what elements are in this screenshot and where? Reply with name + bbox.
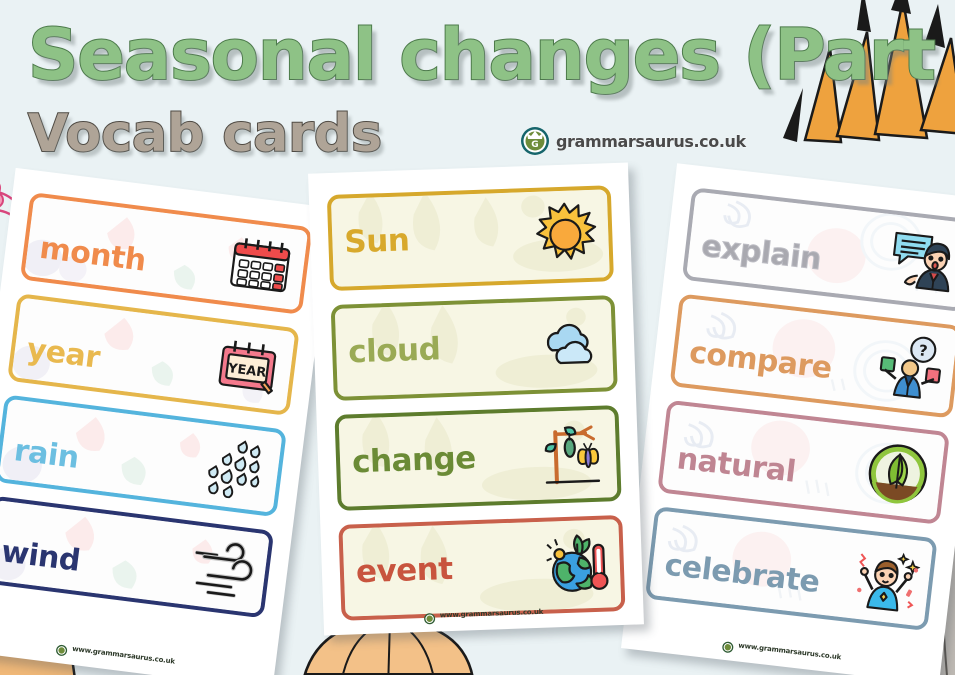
calendar-year-icon: YEAR — [211, 330, 285, 404]
vocab-card[interactable]: cloud — [331, 295, 618, 401]
earth-thermometer-icon — [543, 530, 611, 598]
vocab-card[interactable]: explain — [682, 187, 955, 312]
svg-text:G: G — [531, 140, 538, 150]
sheet-credit-text: www.grammarsaurus.co.uk — [72, 645, 176, 666]
vocab-sheet-right[interactable]: explain — [621, 163, 955, 675]
clouds-icon — [535, 311, 603, 379]
vocab-word: Sun — [332, 222, 411, 287]
sheet-credit-text: www.grammarsaurus.co.uk — [738, 641, 842, 661]
vocab-card[interactable]: rain — [0, 394, 287, 517]
vocab-card[interactable]: change — [334, 405, 621, 511]
vocab-word: year — [11, 330, 101, 387]
sun-icon — [531, 201, 599, 269]
calendar-month-icon — [224, 228, 298, 302]
brand-logo[interactable]: G grammarsaurus.co.uk — [520, 126, 746, 156]
vocab-word: rain — [0, 432, 81, 488]
vocab-card[interactable]: year YEAR — [7, 293, 300, 416]
vocab-card[interactable]: celebrate — [645, 506, 938, 631]
sheet-credit: www.grammarsaurus.co.uk — [622, 626, 941, 675]
sheet-credit-text: www.grammarsaurus.co.uk — [440, 608, 544, 620]
vocab-card[interactable]: natural — [657, 400, 950, 525]
vocab-sheet-left[interactable]: month — [0, 168, 333, 675]
brand-name: grammarsaurus.co.uk — [556, 132, 746, 151]
person-question-blocks-icon: ? — [874, 330, 947, 403]
vocab-word: cloud — [336, 331, 442, 397]
person-celebrating-icon — [849, 543, 922, 616]
grammarsaurus-shield-icon — [56, 641, 69, 654]
wind-gust-icon — [185, 532, 259, 606]
vocab-card[interactable]: wind — [0, 496, 274, 619]
page-subtitle: Vocab cards — [28, 104, 382, 164]
sheet-credit: www.grammarsaurus.co.uk — [0, 628, 275, 675]
vocab-word: change — [340, 440, 478, 507]
vocab-sheet-middle[interactable]: Sun cloud — [308, 163, 644, 636]
caterpillar-butterfly-branch-icon — [539, 421, 607, 489]
vocab-card[interactable]: compare ? — [669, 293, 955, 418]
grammarsaurus-dino-shield-icon: G — [520, 126, 550, 156]
vocab-card[interactable]: Sun — [327, 185, 614, 291]
vocab-word: event — [343, 551, 454, 617]
vocab-card[interactable]: month — [20, 192, 313, 315]
header: Seasonal changes (Part 1) Vocab cards G … — [0, 0, 955, 180]
person-speech-bubble-icon — [886, 224, 955, 297]
page-title: Seasonal changes (Part 1) — [28, 14, 955, 96]
grammarsaurus-shield-icon — [722, 638, 735, 651]
raindrops-icon — [198, 431, 272, 505]
leaf-sprout-circle-icon — [861, 437, 934, 510]
